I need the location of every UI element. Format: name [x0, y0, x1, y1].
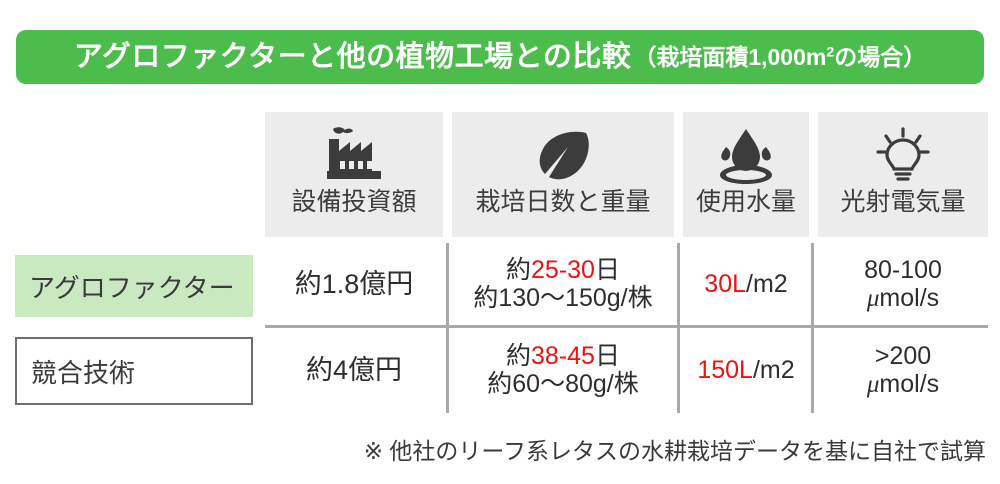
cell-competitor-days-line1: 約38-45日	[506, 342, 620, 370]
cell-competitor-cost: 約4億円	[265, 329, 443, 411]
cell-competitor-cost-value: 約4億円	[306, 355, 402, 385]
water-highlight: 150L	[697, 356, 753, 384]
banner-title: アグロファクターと他の植物工場との比較	[74, 43, 632, 72]
banner-subtitle-suffix: の場合）	[834, 44, 926, 70]
column-divider-days-water	[677, 243, 680, 413]
cell-competitor-days-line2: 約60〜80g/株	[487, 370, 638, 398]
title-banner: アグロファクターと他の植物工場との比較 （栽培面積1,000m2の場合）	[16, 30, 984, 84]
days-highlight: 25-30	[531, 256, 595, 284]
cell-competitor-light: >200 μmol/s	[818, 329, 988, 411]
micro-symbol: μ	[867, 371, 880, 398]
cell-agrofactor-cost-value: 約1.8億円	[295, 269, 414, 299]
light-unit: mol/s	[879, 370, 939, 398]
row-label-competitor-text: 競合技術	[31, 353, 135, 390]
water-suffix: /m2	[753, 356, 795, 384]
column-header-water: 使用水量	[683, 112, 809, 237]
days-prefix: 約	[506, 342, 531, 370]
cell-agrofactor-cost: 約1.8億円	[265, 245, 443, 323]
days-highlight: 38-45	[531, 342, 595, 370]
column-header-cost-label: 設備投資額	[291, 189, 416, 217]
row-label-competitor: 競合技術	[15, 337, 253, 405]
lightbulb-icon	[872, 125, 934, 187]
column-header-cost: 設備投資額	[265, 112, 443, 237]
days-suffix: 日	[595, 256, 620, 284]
water-suffix: /m2	[746, 270, 788, 298]
banner-subtitle-prefix: （栽培面積1,000m	[633, 44, 826, 70]
cell-agrofactor-water: 30L/m2	[683, 245, 809, 323]
footnote: ※ 他社のリーフ系レタスの水耕栽培データを基に自社で試算	[364, 432, 986, 466]
cell-agrofactor-light-line2: μmol/s	[867, 284, 939, 313]
column-divider-water-light	[811, 243, 814, 413]
column-divider-cost-days	[446, 243, 449, 413]
cell-agrofactor-days: 約25-30日 約130〜150g/株	[452, 245, 674, 323]
table-header-row: 設備投資額 栽培日数と重量	[0, 112, 1000, 237]
cell-agrofactor-water-value: 30L/m2	[704, 270, 787, 298]
cell-agrofactor-days-line2: 約130〜150g/株	[473, 284, 652, 312]
table-body: アグロファクター 約1.8億円 約25-30日 約130〜150g/株 30L/…	[0, 237, 1000, 412]
water-highlight: 30L	[704, 270, 746, 298]
micro-symbol: μ	[867, 285, 880, 312]
cell-competitor-water: 150L/m2	[683, 329, 809, 411]
light-unit: mol/s	[879, 284, 939, 312]
cell-competitor-light-line2: μmol/s	[867, 370, 939, 399]
factory-icon	[319, 125, 389, 187]
cell-agrofactor-days-line1: 約25-30日	[506, 256, 620, 284]
banner-subtitle: （栽培面積1,000m2の場合）	[633, 46, 926, 69]
row-label-agrofactor-text: アグロファクター	[29, 268, 235, 305]
cell-agrofactor-light: 80-100 μmol/s	[818, 245, 988, 323]
row-label-agrofactor: アグロファクター	[15, 255, 253, 317]
cell-competitor-light-line1: >200	[875, 342, 931, 370]
cell-competitor-days: 約38-45日 約60〜80g/株	[452, 329, 674, 411]
cell-competitor-water-value: 150L/m2	[697, 356, 794, 384]
water-drop-icon	[714, 125, 778, 187]
column-header-light: 光射電気量	[818, 112, 988, 237]
days-prefix: 約	[506, 256, 531, 284]
comparison-infographic: アグロファクターと他の植物工場との比較 （栽培面積1,000m2の場合）	[0, 0, 1000, 484]
column-header-days: 栽培日数と重量	[452, 112, 674, 237]
cell-agrofactor-light-line1: 80-100	[864, 256, 942, 284]
row-divider	[265, 325, 988, 328]
days-suffix: 日	[595, 342, 620, 370]
column-header-water-label: 使用水量	[696, 189, 796, 217]
comparison-table: 設備投資額 栽培日数と重量	[0, 112, 1000, 412]
column-header-light-label: 光射電気量	[840, 189, 965, 217]
column-header-days-label: 栽培日数と重量	[475, 189, 650, 217]
leaf-icon	[530, 125, 596, 187]
